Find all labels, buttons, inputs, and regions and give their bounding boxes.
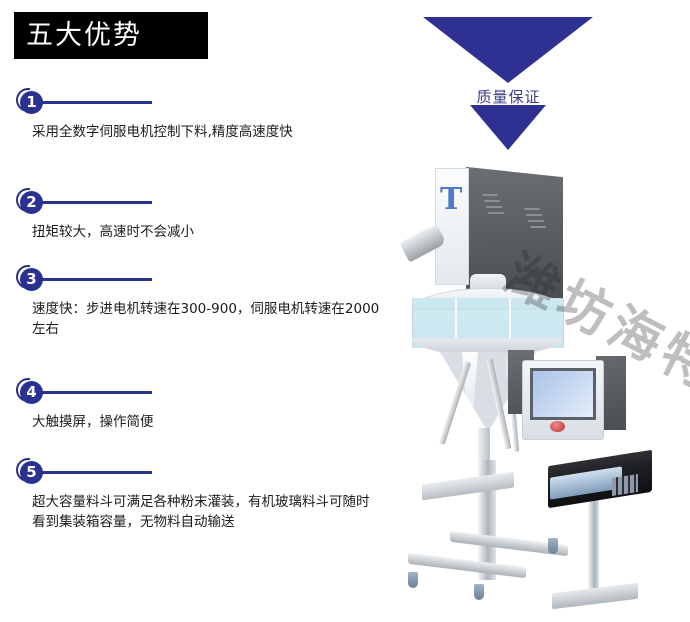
badge-number: 4	[20, 381, 43, 404]
advantage-item-4: 4 大触摸屏，操作简便	[0, 378, 400, 432]
badge-number: 3	[20, 268, 43, 291]
touchscreen-display[interactable]	[530, 368, 596, 420]
advantage-text-5: 超大容量料斗可满足各种粉末灌装，有机玻璃料斗可随时看到集装箱容量，无物料自动输送	[32, 492, 382, 532]
number-badge-5: 5	[16, 458, 44, 486]
advantage-text-2: 扭矩较大，高速时不会减小	[32, 222, 382, 242]
cabinet-vent-icon	[530, 226, 546, 228]
funnel-upper-triangle	[423, 17, 593, 83]
advantage-text-4: 大触摸屏，操作简便	[32, 412, 382, 432]
work-tray	[422, 472, 514, 501]
advantage-text-3: 速度快：步进电机转速在300-900，伺服电机转速在2000左右	[32, 299, 382, 339]
advantage-item-1: 1 采用全数字伺服电机控制下料,精度高速度快	[0, 88, 400, 142]
cabinet-vent-icon	[528, 220, 544, 222]
number-badge-2: 2	[16, 188, 44, 216]
caster-wheel-icon	[408, 572, 418, 588]
cabinet-vent-icon	[484, 200, 500, 202]
advantage-item-3: 3 速度快：步进电机转速在300-900，伺服电机转速在2000左右	[0, 265, 400, 339]
badge-number: 2	[20, 191, 43, 214]
advantage-item-2: 2 扭矩较大，高速时不会减小	[0, 188, 400, 242]
quality-funnel-graphic	[423, 17, 594, 150]
badge-number: 1	[20, 91, 43, 114]
advantage-head-3: 3	[0, 265, 400, 295]
advantage-rule	[42, 471, 152, 474]
cabinet-vent-icon	[482, 194, 498, 196]
scale-pedestal-column	[588, 498, 599, 598]
advantage-head-5: 5	[0, 458, 400, 488]
base-rail-front	[408, 553, 526, 578]
cabinet-vent-icon	[486, 206, 502, 208]
cabinet-vent-icon	[488, 212, 504, 214]
advantage-rule	[42, 278, 152, 281]
brand-logo-icon: T	[440, 182, 464, 218]
number-badge-3: 3	[16, 265, 44, 293]
advantage-item-5: 5 超大容量料斗可满足各种粉末灌装，有机玻璃料斗可随时看到集装箱容量，无物料自动…	[0, 458, 400, 532]
advantage-rule	[42, 201, 152, 204]
advantage-text-1: 采用全数字伺服电机控制下料,精度高速度快	[32, 122, 382, 142]
page-title-box: 五大优势	[14, 12, 208, 59]
advantage-head-4: 4	[0, 378, 400, 408]
advantage-rule	[42, 391, 152, 394]
number-badge-1: 1	[16, 88, 44, 116]
caster-wheel-icon	[474, 584, 484, 600]
page-title: 五大优势	[14, 22, 142, 49]
emergency-stop-button[interactable]	[550, 421, 565, 432]
cabinet-vent-icon	[524, 208, 540, 210]
number-badge-4: 4	[16, 378, 44, 406]
funnel-lower-triangle	[470, 105, 546, 150]
advantage-head-2: 2	[0, 188, 400, 218]
advantage-rule	[42, 101, 152, 104]
cabinet-vent-icon	[526, 214, 542, 216]
caster-wheel-icon	[548, 538, 558, 554]
machine-photo: T	[400, 160, 690, 580]
promo-page: 五大优势 1 采用全数字伺服电机控制下料,精度高速度快 2 扭矩较大，高速时不会…	[0, 0, 690, 622]
badge-number: 5	[20, 461, 43, 484]
quality-funnel-label: 质量保证	[423, 86, 594, 107]
advantage-head-1: 1	[0, 88, 400, 118]
